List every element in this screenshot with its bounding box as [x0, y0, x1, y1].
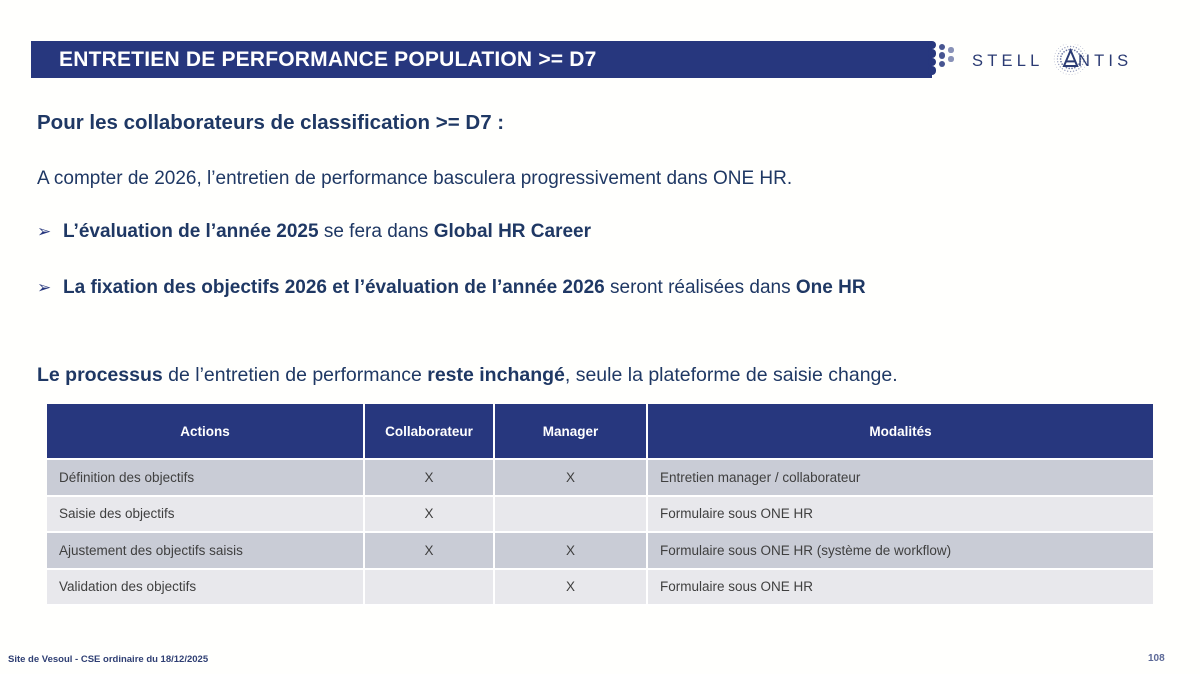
bullet-arrow-icon: ➢	[37, 222, 63, 242]
lead-heading: Pour les collaborateurs de classificatio…	[37, 111, 504, 135]
table-row: Saisie des objectifs X Formulaire sous O…	[47, 497, 1153, 534]
cell-modalites: Formulaire sous ONE HR	[648, 497, 1153, 534]
cell-collaborateur: X	[365, 460, 495, 497]
bullet-2-bold-1: La fixation des objectifs 2026 et l’éval…	[63, 277, 605, 298]
bullet-2-bold-2: One HR	[796, 277, 866, 298]
cell-modalites: Formulaire sous ONE HR	[648, 570, 1153, 607]
bullet-1-bold-2: Global HR Career	[434, 221, 591, 242]
column-header-collaborateur: Collaborateur	[365, 404, 495, 460]
processus-bold-1: Le processus	[37, 364, 163, 386]
table-body: Définition des objectifs X X Entretien m…	[47, 460, 1153, 606]
modalities-table: Actions Collaborateur Manager Modalités …	[47, 404, 1153, 606]
cell-modalites: Formulaire sous ONE HR (système de workf…	[648, 533, 1153, 570]
cell-manager: X	[495, 533, 648, 570]
cell-manager: X	[495, 570, 648, 607]
bullet-item-2-text: La fixation des objectifs 2026 et l’éval…	[63, 277, 866, 299]
cell-action: Validation des objectifs	[47, 570, 365, 607]
table-row: Définition des objectifs X X Entretien m…	[47, 460, 1153, 497]
bullet-2-normal-1: seront réalisées dans	[605, 277, 796, 298]
cell-manager: X	[495, 460, 648, 497]
processus-line: Le processus de l’entretien de performan…	[37, 364, 898, 387]
processus-normal-1: de l’entretien de performance	[163, 364, 428, 386]
bullet-item-2: ➢ La fixation des objectifs 2026 et l’év…	[37, 277, 866, 299]
bullet-1-normal-1: se fera dans	[319, 221, 434, 242]
column-header-manager: Manager	[495, 404, 648, 460]
bullet-1-bold-1: L’évaluation de l’année 2025	[63, 221, 319, 242]
footer-text: Site de Vesoul - CSE ordinaire du 18/12/…	[8, 654, 208, 665]
bullet-item-1-text: L’évaluation de l’année 2025 se fera dan…	[63, 221, 591, 243]
column-header-modalites: Modalités	[648, 404, 1153, 460]
slide: ENTRETIEN DE PERFORMANCE POPULATION >= D…	[0, 0, 1200, 674]
cell-collaborateur: X	[365, 497, 495, 534]
cell-collaborateur: X	[365, 533, 495, 570]
column-header-actions: Actions	[47, 404, 365, 460]
table-row: Validation des objectifs X Formulaire so…	[47, 570, 1153, 607]
cell-modalites: Entretien manager / collaborateur	[648, 460, 1153, 497]
bullet-item-1: ➢ L’évaluation de l’année 2025 se fera d…	[37, 221, 591, 243]
table-header: Actions Collaborateur Manager Modalités	[47, 404, 1153, 460]
processus-normal-2: , seule la plateforme de saisie change.	[565, 364, 898, 386]
cell-action: Ajustement des objectifs saisis	[47, 533, 365, 570]
page-number: 108	[1148, 653, 1165, 664]
processus-bold-2: reste inchangé	[427, 364, 565, 386]
cell-collaborateur	[365, 570, 495, 607]
cell-action: Définition des objectifs	[47, 460, 365, 497]
intro-paragraph: A compter de 2026, l’entretien de perfor…	[37, 168, 792, 190]
table-row: Ajustement des objectifs saisis X X Form…	[47, 533, 1153, 570]
cell-manager	[495, 497, 648, 534]
slide-content: Pour les collaborateurs de classificatio…	[0, 0, 1200, 674]
bullet-arrow-icon: ➢	[37, 278, 63, 298]
table-header-row: Actions Collaborateur Manager Modalités	[47, 404, 1153, 460]
cell-action: Saisie des objectifs	[47, 497, 365, 534]
